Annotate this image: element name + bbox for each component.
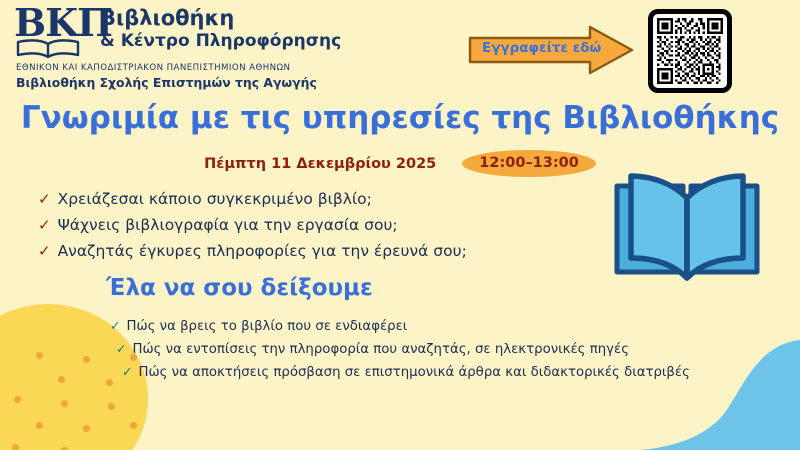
- qr-code-matrix: [657, 18, 723, 84]
- list-item: ✓ Ψάχνεις βιβλιογραφία για την εργασία σ…: [38, 216, 467, 234]
- list-item: ✓ Χρειάζεσαι κάποιο συγκεκριμένο βιβλίο;: [38, 190, 467, 208]
- check-icon: ✓: [116, 341, 126, 356]
- event-time-badge: 12:00–13:00: [462, 150, 596, 177]
- check-icon: ✓: [122, 364, 132, 379]
- logo-title-line2: & Κέντρο Πληροφόρησης: [100, 31, 341, 51]
- event-date: Πέμπτη 11 Δεκεμβρίου 2025: [204, 156, 436, 172]
- answer-text: Πώς να εντοπίσεις την πληροφορία που ανα…: [132, 342, 629, 357]
- check-icon: ✓: [38, 216, 51, 234]
- question-text: Χρειάζεσαι κάποιο συγκεκριμένο βιβλίο;: [58, 190, 372, 208]
- event-datetime: Πέμπτη 11 Δεκεμβρίου 2025 12:00–13:00: [0, 150, 800, 177]
- question-text: Αναζητάς έγκυρες πληροφορίες για την έρε…: [58, 242, 467, 260]
- logo-university-name: ΕΘΝΙΚΟΝ ΚΑΙ ΚΑΠΟΔΙΣΤΡΙΑΚΟΝ ΠΑΝΕΠΙΣΤΗΜΙΟΝ…: [16, 63, 341, 73]
- check-icon: ✓: [110, 318, 120, 333]
- questions-list: ✓ Χρειάζεσαι κάποιο συγκεκριμένο βιβλίο;…: [38, 190, 467, 268]
- logo-mark: ΒΚΠ: [14, 6, 98, 58]
- qr-code-icon[interactable]: [648, 9, 732, 93]
- page-title: Γνωριμία με τις υπηρεσίες της Βιβλιοθήκη…: [0, 100, 800, 136]
- list-item: ✓ Πώς να βρεις το βιβλίο που σε ενδιαφέρ…: [110, 318, 690, 334]
- list-item: ✓ Πώς να εντοπίσεις την πληροφορία που α…: [110, 341, 690, 357]
- poster-canvas: ΒΚΠ Βιβλιοθήκη & Κέντρο Πληροφόρησης ΕΘΝ…: [0, 0, 800, 450]
- check-icon: ✓: [38, 190, 51, 208]
- check-icon: ✓: [38, 242, 51, 260]
- logo-title-line1: Βιβλιοθήκη: [100, 7, 341, 30]
- library-logo: ΒΚΠ Βιβλιοθήκη & Κέντρο Πληροφόρησης ΕΘΝ…: [14, 6, 341, 90]
- list-item: ✓ Πώς να αποκτήσεις πρόσβαση σε επιστημο…: [110, 364, 690, 380]
- logo-acronym: ΒΚΠ: [14, 4, 112, 42]
- right-arrow-icon: [466, 22, 636, 78]
- logo-school-name: Βιβλιοθήκη Σχολής Επιστημών της Αγωγής: [16, 75, 341, 90]
- register-here-button[interactable]: Εγγραφείτε εδώ: [466, 22, 636, 78]
- answers-list: ✓ Πώς να βρεις το βιβλίο που σε ενδιαφέρ…: [110, 318, 690, 387]
- list-item: ✓ Αναζητάς έγκυρες πληροφορίες για την έ…: [38, 242, 467, 260]
- cta-heading: Έλα να σου δείξουμε: [106, 275, 373, 301]
- open-book-illustration: [607, 168, 767, 288]
- answer-text: Πώς να αποκτήσεις πρόσβαση σε επιστημονι…: [138, 365, 689, 380]
- answer-text: Πώς να βρεις το βιβλίο που σε ενδιαφέρει: [126, 319, 407, 334]
- question-text: Ψάχνεις βιβλιογραφία για την εργασία σου…: [58, 216, 398, 234]
- open-book-icon: [16, 39, 80, 58]
